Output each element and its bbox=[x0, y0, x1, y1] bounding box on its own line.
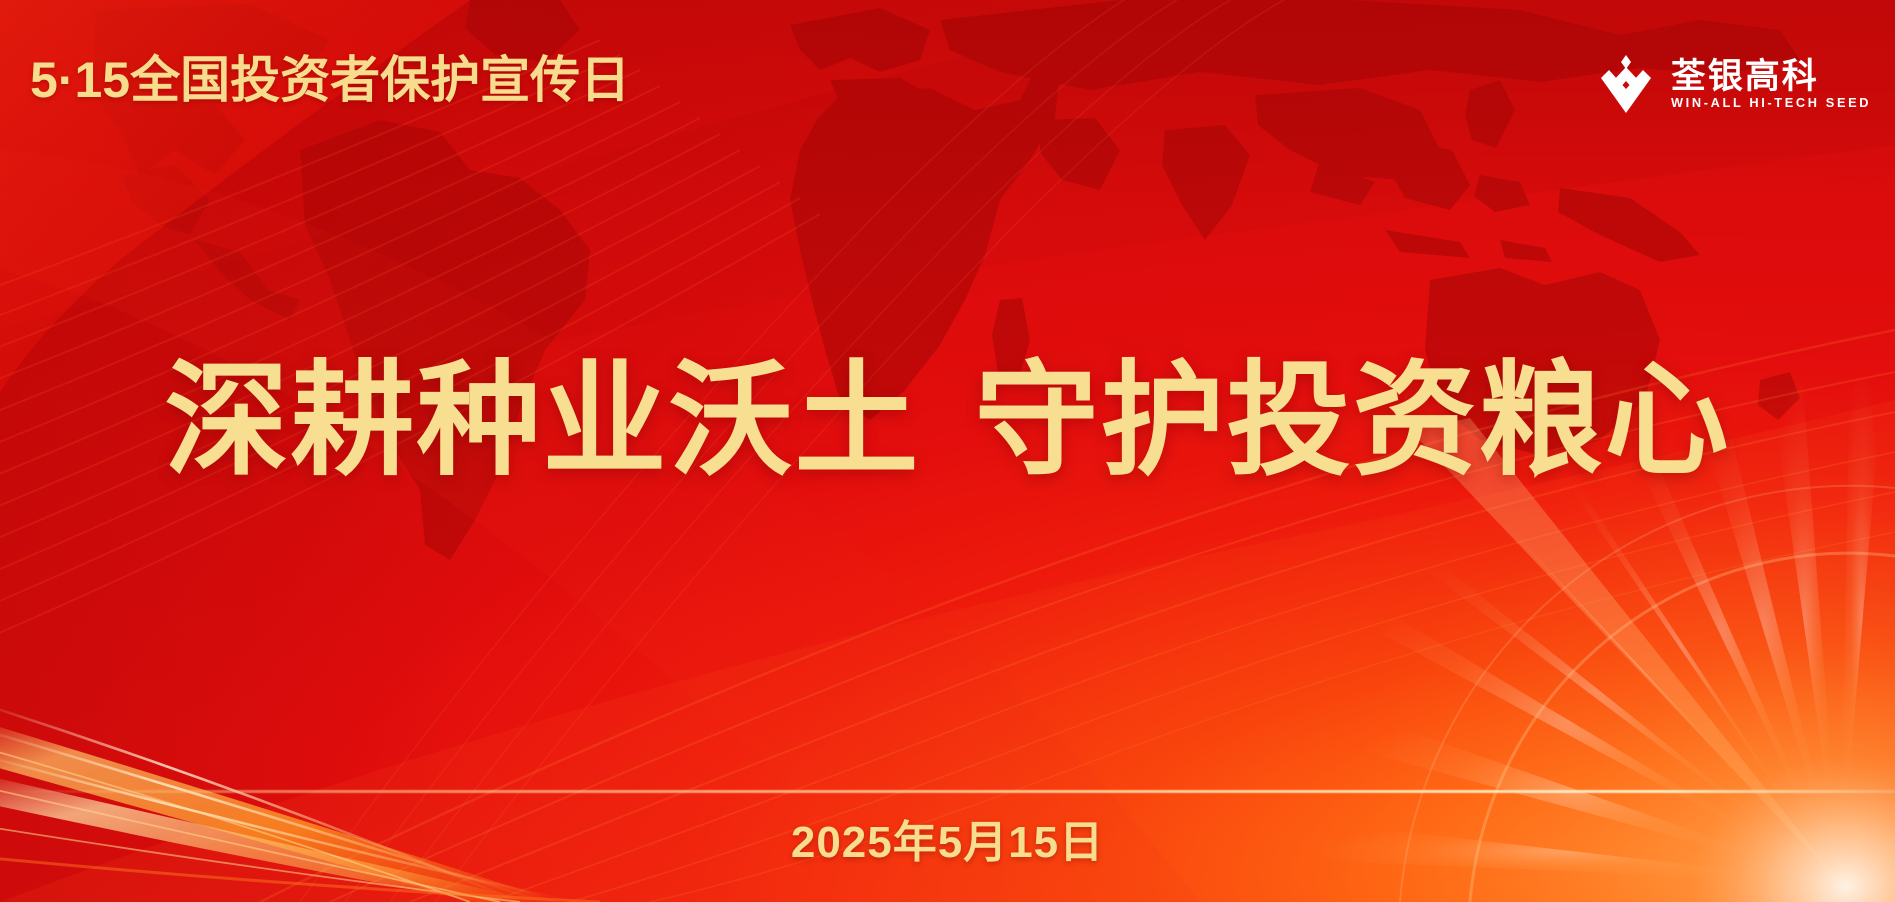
company-name-cn: 荃银高科 bbox=[1671, 59, 1867, 94]
headline-part-1: 深耕种业沃土 bbox=[164, 352, 920, 490]
poster-headline: 深耕种业沃土守护投资粮心 bbox=[0, 352, 1895, 491]
poster-content: 5·15全国投资者保护宣传日 深耕种业沃土守护投资粮心 2025年5月15日 bbox=[0, 0, 1895, 902]
chevron-seed-mark-icon bbox=[1596, 52, 1656, 116]
company-logo: 荃银高科 WIN-ALL HI-TECH SEED bbox=[1596, 52, 1867, 116]
event-date: 2025年5月15日 bbox=[0, 806, 1895, 870]
investor-protection-day-poster: 5·15全国投资者保护宣传日 深耕种业沃土守护投资粮心 2025年5月15日 bbox=[0, 0, 1895, 902]
headline-part-2: 守护投资粮心 bbox=[975, 352, 1731, 490]
company-logo-text: 荃银高科 WIN-ALL HI-TECH SEED bbox=[1671, 59, 1867, 110]
company-name-en: WIN-ALL HI-TECH SEED bbox=[1671, 97, 1871, 110]
campaign-kicker: 5·15全国投资者保护宣传日 bbox=[30, 52, 630, 108]
